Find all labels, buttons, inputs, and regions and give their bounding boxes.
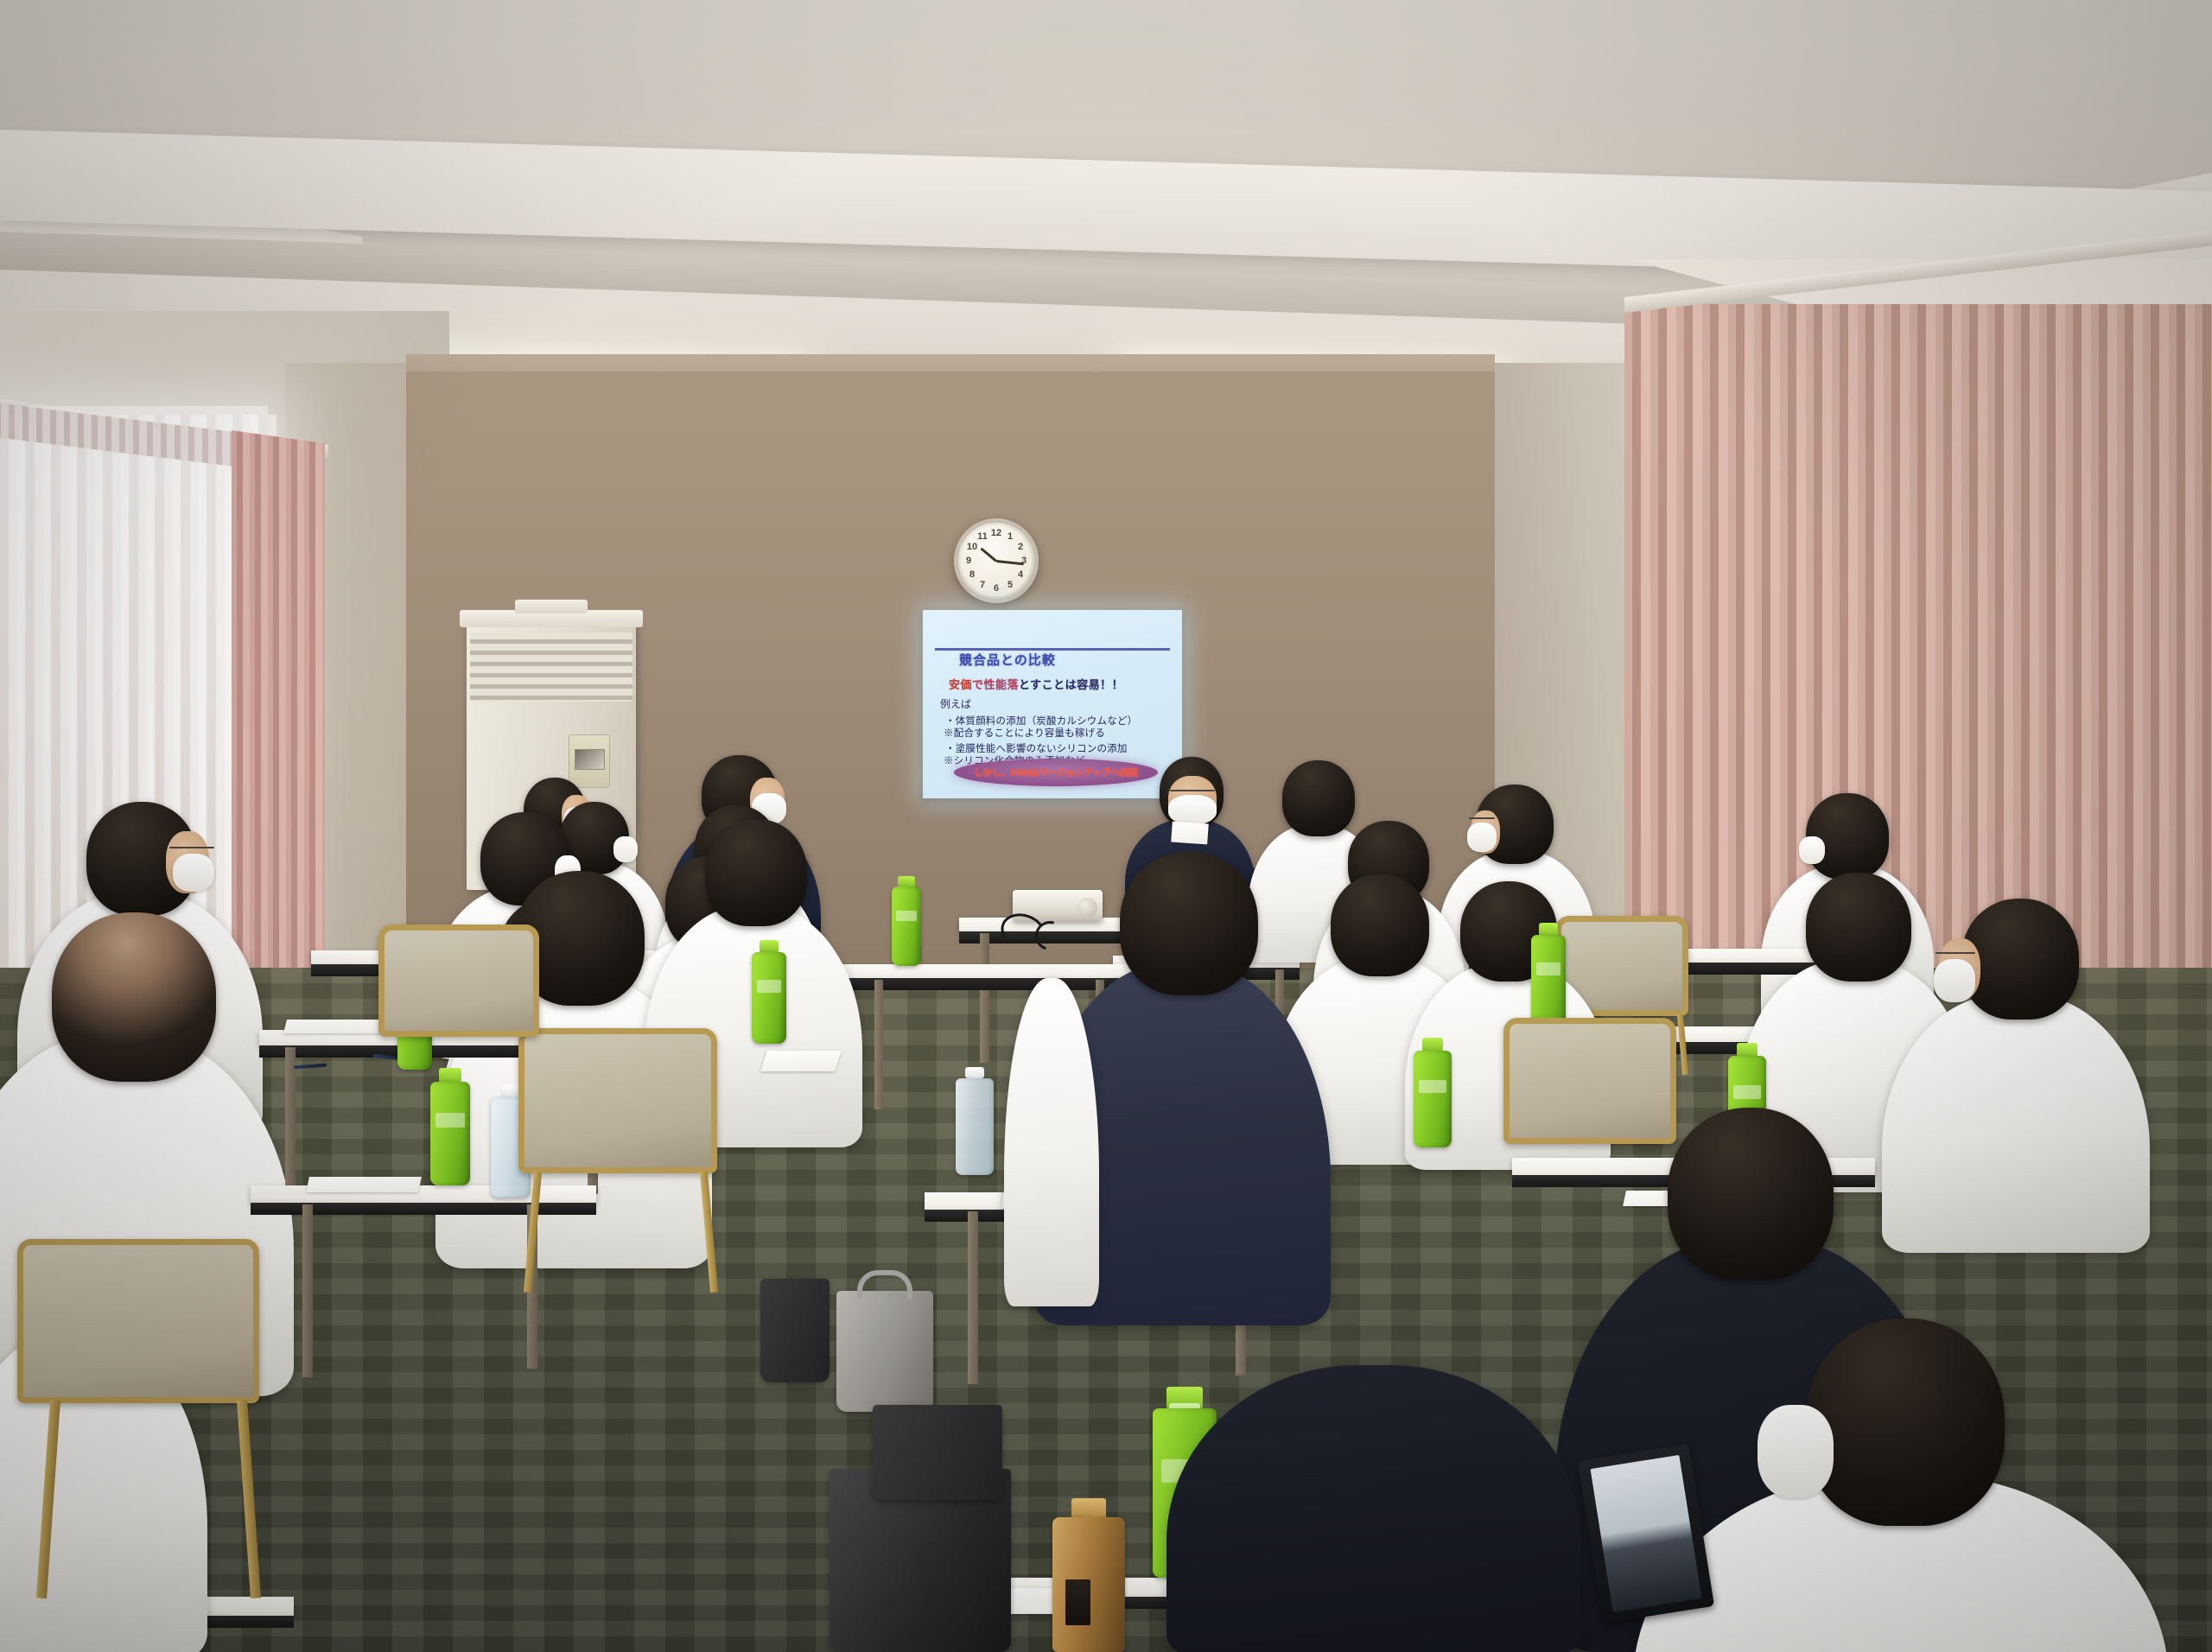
bottle-label	[1419, 1080, 1446, 1094]
slide-lead-before: 安価	[949, 678, 972, 691]
chair-backrest	[378, 924, 539, 1037]
attendee-head	[1806, 873, 1911, 982]
handout-front-left	[283, 1020, 391, 1033]
table-leg	[302, 1204, 313, 1377]
clock-face: 12 1 2 3 4 5 6 7 8 9 10 11	[961, 525, 1032, 596]
slide-callout-oval: しかし、SSNはバージョンアップへ挑戦	[954, 759, 1158, 786]
bottle-cap	[1539, 923, 1558, 935]
projector-lens-icon	[1077, 898, 1097, 918]
attendee-head	[1806, 793, 1889, 880]
seminar-room-photograph: 12 1 2 3 4 5 6 7 8 9 10 11 競合品との比較 安価で性能…	[0, 0, 2212, 1652]
chair-backrest	[518, 1028, 717, 1173]
ac-control-panel[interactable]	[569, 734, 610, 788]
clock-numeral: 2	[1018, 542, 1023, 552]
clock-numeral: 8	[969, 569, 975, 580]
green-tea-bottle[interactable]	[1531, 935, 1566, 1026]
clock-hour-hand	[980, 548, 997, 562]
table-row2-center	[829, 964, 1141, 980]
bottle-body	[752, 952, 786, 1044]
dark-bag[interactable]	[760, 1279, 829, 1382]
water-bottle[interactable]	[956, 1078, 994, 1175]
table-leg	[980, 933, 989, 1063]
bottle-cap	[1422, 1038, 1444, 1051]
presenter-glasses-icon	[1170, 790, 1215, 791]
clock-numeral: 9	[966, 556, 971, 566]
attendee-mask	[1758, 1405, 1834, 1498]
wall-clock: 12 1 2 3 4 5 6 7 8 9 10 11	[954, 518, 1039, 603]
clock-numeral: 11	[977, 531, 988, 542]
slide-callout-text: しかし、SSNはバージョンアップへ挑戦	[974, 766, 1137, 779]
tote-bag[interactable]	[836, 1291, 933, 1412]
bottle-cap	[439, 1068, 461, 1082]
attendee-glasses-icon	[1935, 952, 1975, 954]
bottle-label	[757, 980, 782, 993]
clock-numeral: 4	[1018, 569, 1023, 580]
bag-front-left[interactable]	[873, 1405, 1002, 1500]
bottle-body	[892, 886, 921, 966]
chair-row2-left[interactable]	[378, 924, 539, 1037]
slide-lead-after: とすことは容易！！	[1019, 678, 1123, 691]
chair-backrest	[1503, 1018, 1676, 1144]
bottle-label	[1536, 963, 1561, 975]
slide-lead-line: 安価で性能落とすことは容易！！	[949, 676, 1123, 692]
drape-left	[232, 430, 325, 1039]
bottle-body	[430, 1082, 470, 1185]
chair-empty-center[interactable]	[1503, 1018, 1676, 1144]
bottle-body	[1531, 935, 1566, 1026]
bottle-cap	[965, 1067, 985, 1078]
bottle-label	[435, 1113, 464, 1128]
handout-notebook	[760, 1051, 842, 1071]
presenter-collar	[1171, 822, 1209, 845]
clock-minute-hand	[996, 560, 1024, 565]
green-tea-bottle[interactable]	[892, 886, 921, 966]
attendee-glasses-icon	[1469, 817, 1495, 819]
bottle-cap	[1737, 1043, 1758, 1056]
ac-panel-screen	[575, 749, 605, 770]
slide-subheading: 例えば	[940, 696, 971, 711]
clock-numeral: 10	[967, 542, 977, 552]
green-tea-bottle[interactable]	[752, 952, 786, 1044]
chair-foreground-center[interactable]	[518, 1028, 717, 1173]
clock-numeral: 1	[1007, 531, 1013, 542]
attendee-mask	[1799, 836, 1825, 864]
table-leg	[874, 980, 883, 1109]
slide-bullet: ※配合することにより容量も稼げる	[944, 726, 1105, 740]
clock-numeral: 6	[994, 583, 999, 594]
table-leg	[968, 1211, 978, 1384]
attendee-mask	[1467, 823, 1497, 852]
bottle-label	[896, 911, 917, 922]
handout-front-left-2	[306, 1177, 422, 1192]
clock-numeral: 5	[1007, 580, 1013, 590]
attendee-head	[1120, 852, 1258, 995]
presenter-mask	[1168, 795, 1217, 824]
bottle-label	[1733, 1085, 1761, 1099]
table-leg	[285, 1047, 296, 1203]
bottle-body	[956, 1078, 994, 1175]
attendee-head	[705, 819, 807, 926]
green-tea-bottle[interactable]	[430, 1082, 470, 1185]
attendee-glasses-icon	[169, 847, 214, 848]
can-body	[1052, 1517, 1125, 1652]
ac-cap	[515, 600, 588, 613]
ac-louvers	[470, 632, 632, 702]
attendee-mask	[173, 854, 214, 892]
table-front-left-lower	[251, 1185, 596, 1204]
bottle-body	[1414, 1051, 1452, 1147]
clock-numeral: 12	[991, 528, 1001, 538]
clock-numeral: 7	[980, 580, 985, 590]
attendee-head-bald	[52, 912, 216, 1082]
can-label	[1065, 1579, 1090, 1625]
attendee-head	[1331, 874, 1429, 976]
slide-title: 競合品との比較	[959, 651, 1056, 669]
slide-lead-mid: で性能落	[972, 678, 1019, 691]
attendee-head	[1282, 760, 1355, 836]
green-tea-bottle[interactable]	[1414, 1051, 1452, 1147]
tote-bag-handle	[857, 1270, 912, 1299]
attendee-head	[1806, 1318, 2005, 1526]
attendee-head	[1668, 1108, 1834, 1280]
bottle-cap	[898, 876, 914, 886]
smartphone-screen	[1591, 1455, 1702, 1611]
attendee-mask	[613, 836, 638, 862]
chair-backrest	[17, 1239, 259, 1403]
attendee-mask	[1934, 959, 1975, 1002]
coffee-can[interactable]	[1052, 1517, 1125, 1652]
projected-slide: 競合品との比較 安価で性能落とすことは容易！！ 例えば ・体質顔料の添加（炭酸カ…	[923, 610, 1182, 798]
chair-foreground-left[interactable]	[17, 1239, 259, 1403]
bottle-cap	[760, 940, 779, 952]
